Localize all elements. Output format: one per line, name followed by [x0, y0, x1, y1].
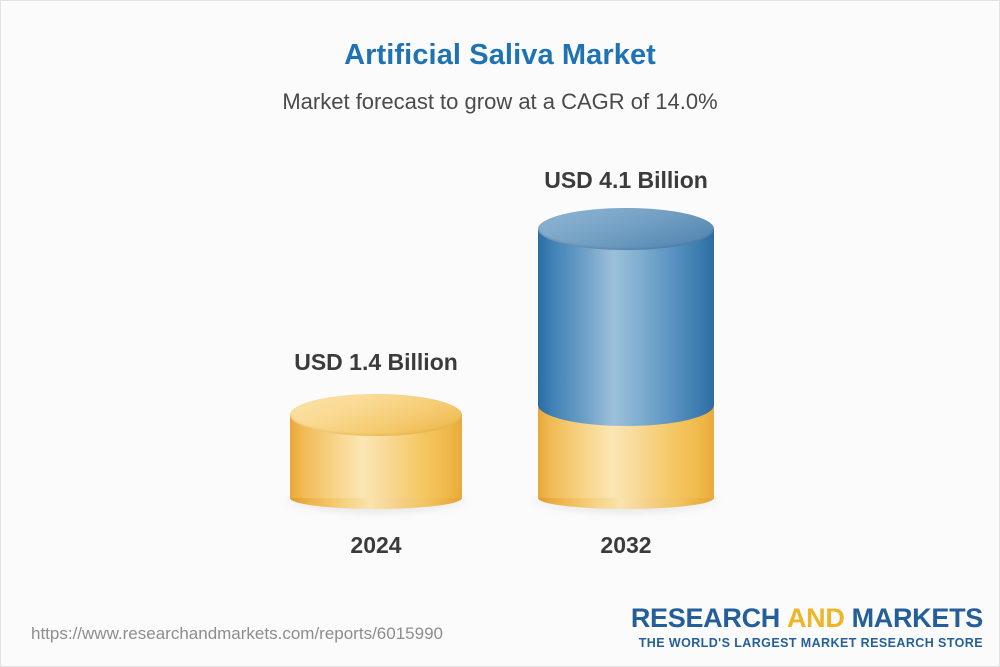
bar-category-label-2024: 2024 [290, 532, 462, 559]
logo-wordmark: RESEARCHANDMARKETS [631, 603, 983, 634]
chart-canvas: Artificial Saliva Market Market forecast… [0, 0, 1000, 667]
research-and-markets-logo[interactable]: RESEARCHANDMARKETS THE WORLD'S LARGEST M… [631, 603, 983, 650]
bar-top-cap-2024 [290, 394, 462, 436]
bar-cylinder-2024[interactable] [290, 394, 462, 509]
bar-seam-2032 [538, 384, 714, 426]
bar-top-cap-2032 [538, 208, 714, 250]
bar-body-blue-2032 [538, 229, 714, 405]
plot-area: USD 1.4 Billion 2024 USD 4.1 Billion 203… [1, 1, 1000, 601]
source-url[interactable]: https://www.researchandmarkets.com/repor… [31, 624, 443, 644]
logo-word-markets: MARKETS [852, 603, 983, 633]
bar-value-label-2024: USD 1.4 Billion [290, 349, 462, 376]
logo-tagline: THE WORLD'S LARGEST MARKET RESEARCH STOR… [631, 636, 983, 650]
logo-word-research: RESEARCH [631, 603, 780, 633]
bar-category-label-2032: 2032 [538, 532, 714, 559]
bar-value-label-2032: USD 4.1 Billion [538, 167, 714, 194]
bar-cylinder-2032[interactable] [538, 208, 714, 509]
logo-word-and: AND [787, 603, 845, 633]
